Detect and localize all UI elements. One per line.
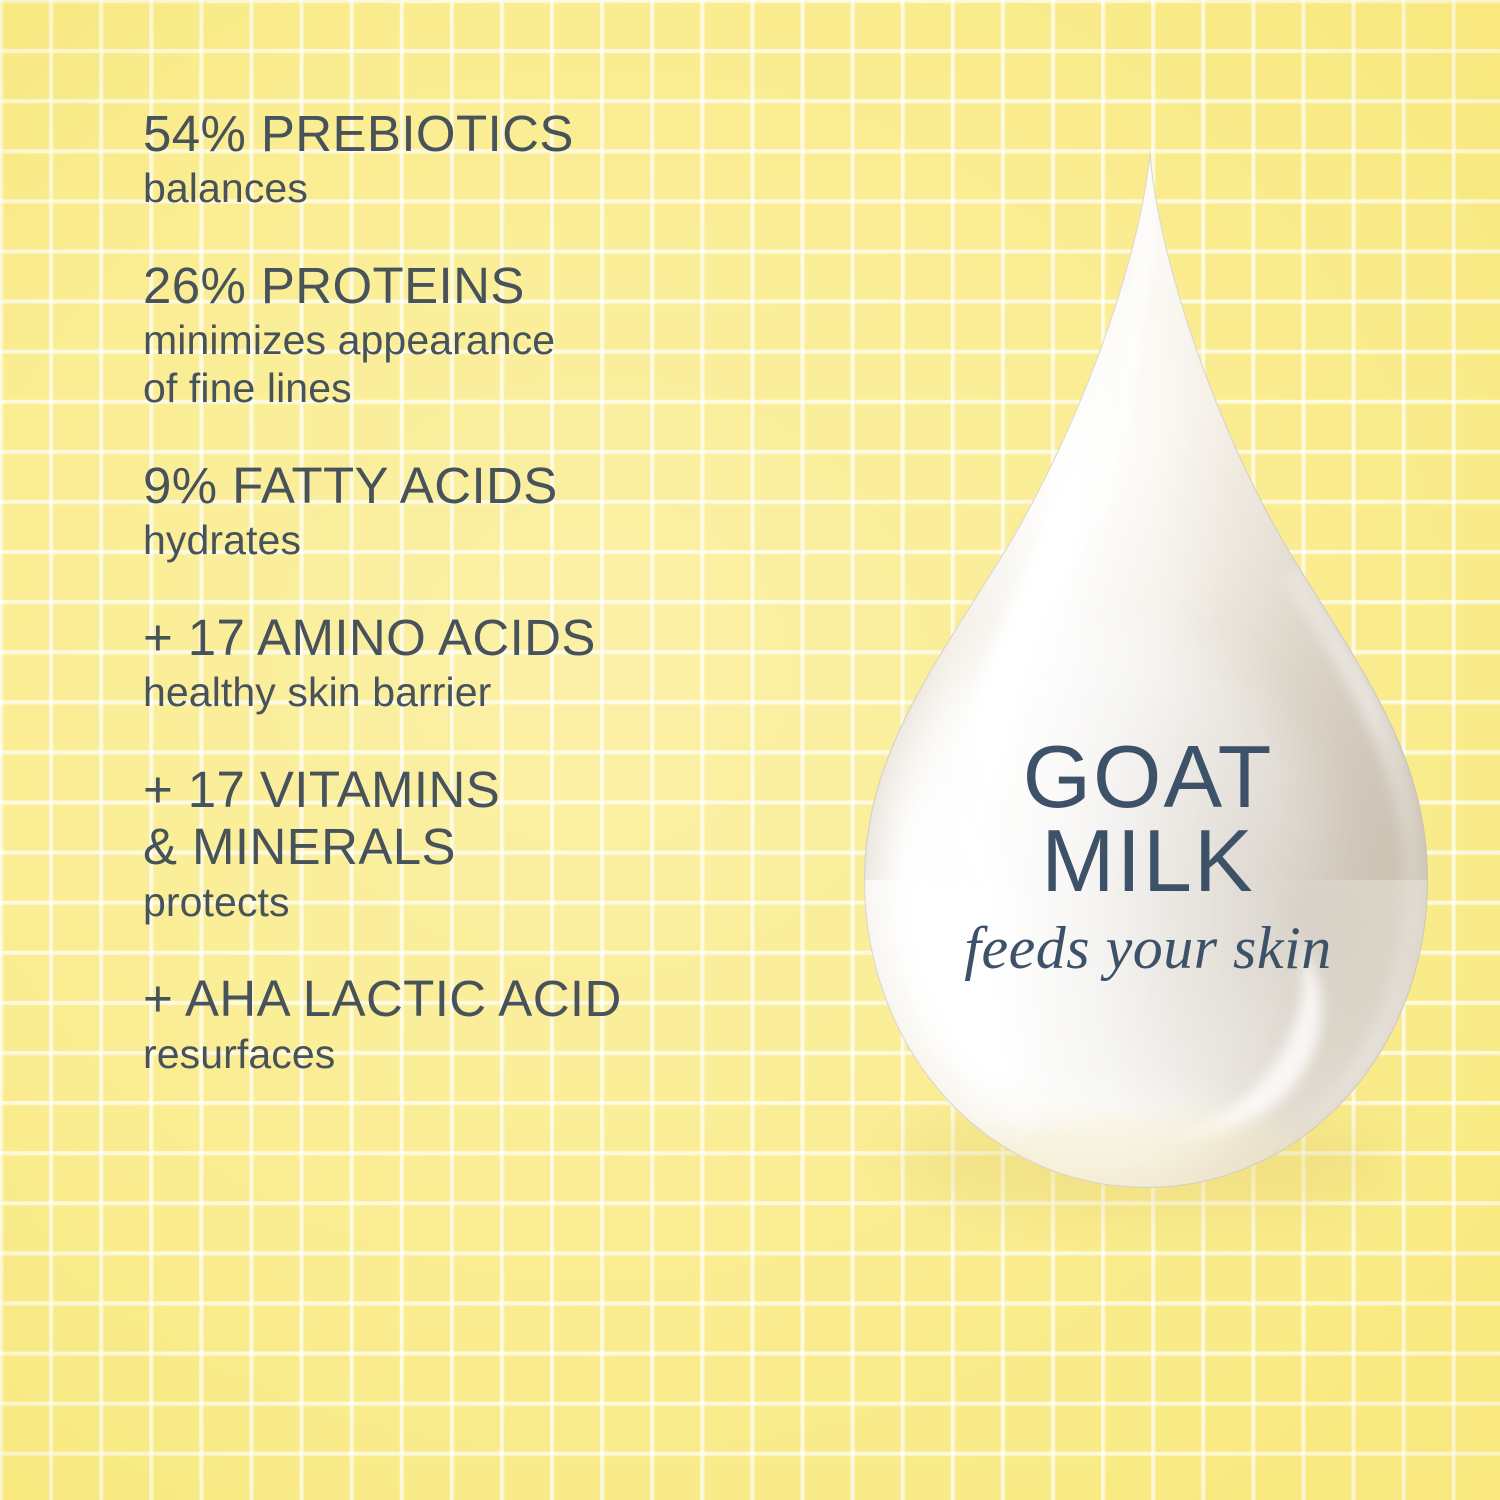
ingredient-headline: + 17 VITAMINS & MINERALS (143, 761, 843, 875)
ingredient-item-prebiotics: 54% PREBIOTICS balances (143, 105, 843, 213)
ingredient-headline: 54% PREBIOTICS (143, 105, 843, 162)
ingredient-item-aha-lactic-acid: + AHA LACTIC ACID resurfaces (143, 970, 843, 1078)
ingredient-item-vitamins-minerals: + 17 VITAMINS & MINERALS protects (143, 761, 843, 926)
ingredient-headline: 9% FATTY ACIDS (143, 457, 843, 514)
milk-droplet-icon (828, 140, 1468, 1210)
ingredient-benefit: hydrates (143, 517, 843, 565)
ingredient-benefit: balances (143, 165, 843, 213)
ingredient-list: 54% PREBIOTICS balances 26% PROTEINS min… (143, 105, 843, 1079)
ingredient-headline: + 17 AMINO ACIDS (143, 609, 843, 666)
ingredient-benefit: minimizes appearance of fine lines (143, 317, 843, 413)
ingredient-item-amino-acids: + 17 AMINO ACIDS healthy skin barrier (143, 609, 843, 717)
infographic-canvas: 54% PREBIOTICS balances 26% PROTEINS min… (0, 0, 1500, 1500)
ingredient-benefit: protects (143, 879, 843, 927)
ingredient-headline: + AHA LACTIC ACID (143, 970, 843, 1027)
ingredient-headline: 26% PROTEINS (143, 257, 843, 314)
ingredient-benefit: resurfaces (143, 1031, 843, 1079)
ingredient-benefit: healthy skin barrier (143, 669, 843, 717)
ingredient-item-proteins: 26% PROTEINS minimizes appearance of fin… (143, 257, 843, 413)
ingredient-item-fatty-acids: 9% FATTY ACIDS hydrates (143, 457, 843, 565)
milk-droplet-illustration (828, 140, 1468, 1210)
